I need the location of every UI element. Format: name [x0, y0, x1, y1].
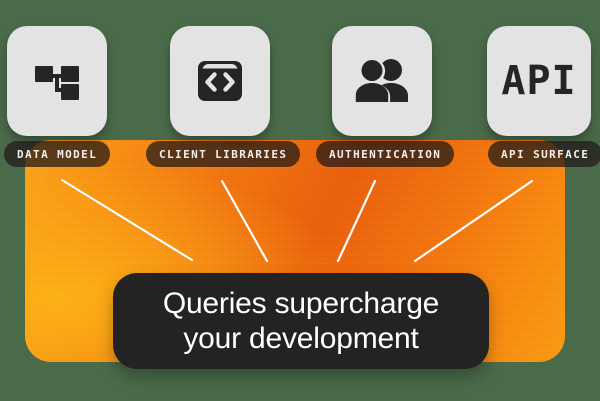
card-api-surface[interactable]: API — [487, 26, 591, 136]
schema-nodes-icon — [31, 55, 83, 107]
headline-line-2: your development — [183, 322, 418, 355]
pill-label-client-libraries: CLIENT LIBRARIES — [159, 149, 287, 160]
pill-label-data-model: DATA MODEL — [17, 149, 97, 160]
headline-line-1: Queries supercharge — [163, 287, 439, 320]
pill-authentication: AUTHENTICATION — [316, 141, 454, 167]
people-group-icon — [351, 57, 413, 105]
headline-card: Queries superchargeyour development — [113, 273, 489, 369]
card-authentication[interactable] — [332, 26, 432, 136]
card-data-model[interactable] — [7, 26, 107, 136]
code-brackets-book-icon — [194, 55, 246, 107]
diagram-canvas: DATA MODEL CLIENT LIBRARIES — [0, 0, 600, 401]
pill-label-authentication: AUTHENTICATION — [329, 149, 441, 160]
pill-label-api-surface: API SURFACE — [501, 149, 589, 160]
card-client-libraries[interactable] — [170, 26, 270, 136]
api-text-icon: API — [501, 61, 576, 101]
pill-data-model: DATA MODEL — [4, 141, 110, 167]
headline-text: Queries superchargeyour development — [149, 286, 453, 357]
pill-client-libraries: CLIENT LIBRARIES — [146, 141, 300, 167]
pill-api-surface: API SURFACE — [488, 141, 600, 167]
